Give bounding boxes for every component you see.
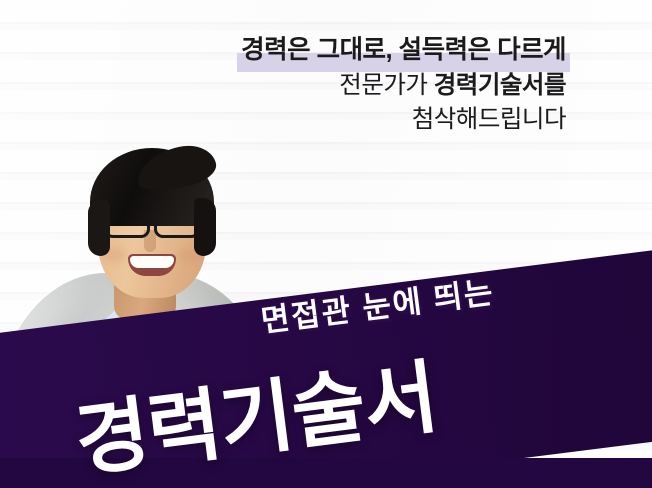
hair-side-left — [88, 200, 110, 256]
headline-line-1: 경력은 그대로, 설득력은 다르게 — [241, 34, 566, 67]
hair-side-right — [194, 198, 216, 256]
headline-line-1-text: 경력은 그대로, 설득력은 다르게 — [241, 36, 566, 64]
headline-line-2: 전문가가 경력기술서를 — [0, 70, 566, 102]
smiling-mouth — [128, 254, 176, 276]
advertisement-banner: 경력은 그대로, 설득력은 다르게 전문가가 경력기술서를 첨삭해드립니다 면접… — [0, 0, 652, 488]
headline-line-2-normal: 전문가가 — [339, 72, 433, 99]
teeth — [130, 256, 174, 268]
headline-block: 경력은 그대로, 설득력은 다르게 전문가가 경력기술서를 첨삭해드립니다 — [0, 34, 640, 136]
headline-line-2-strong: 경력기술서를 — [434, 72, 566, 99]
headline-line-3: 첨삭해드립니다 — [0, 104, 566, 136]
